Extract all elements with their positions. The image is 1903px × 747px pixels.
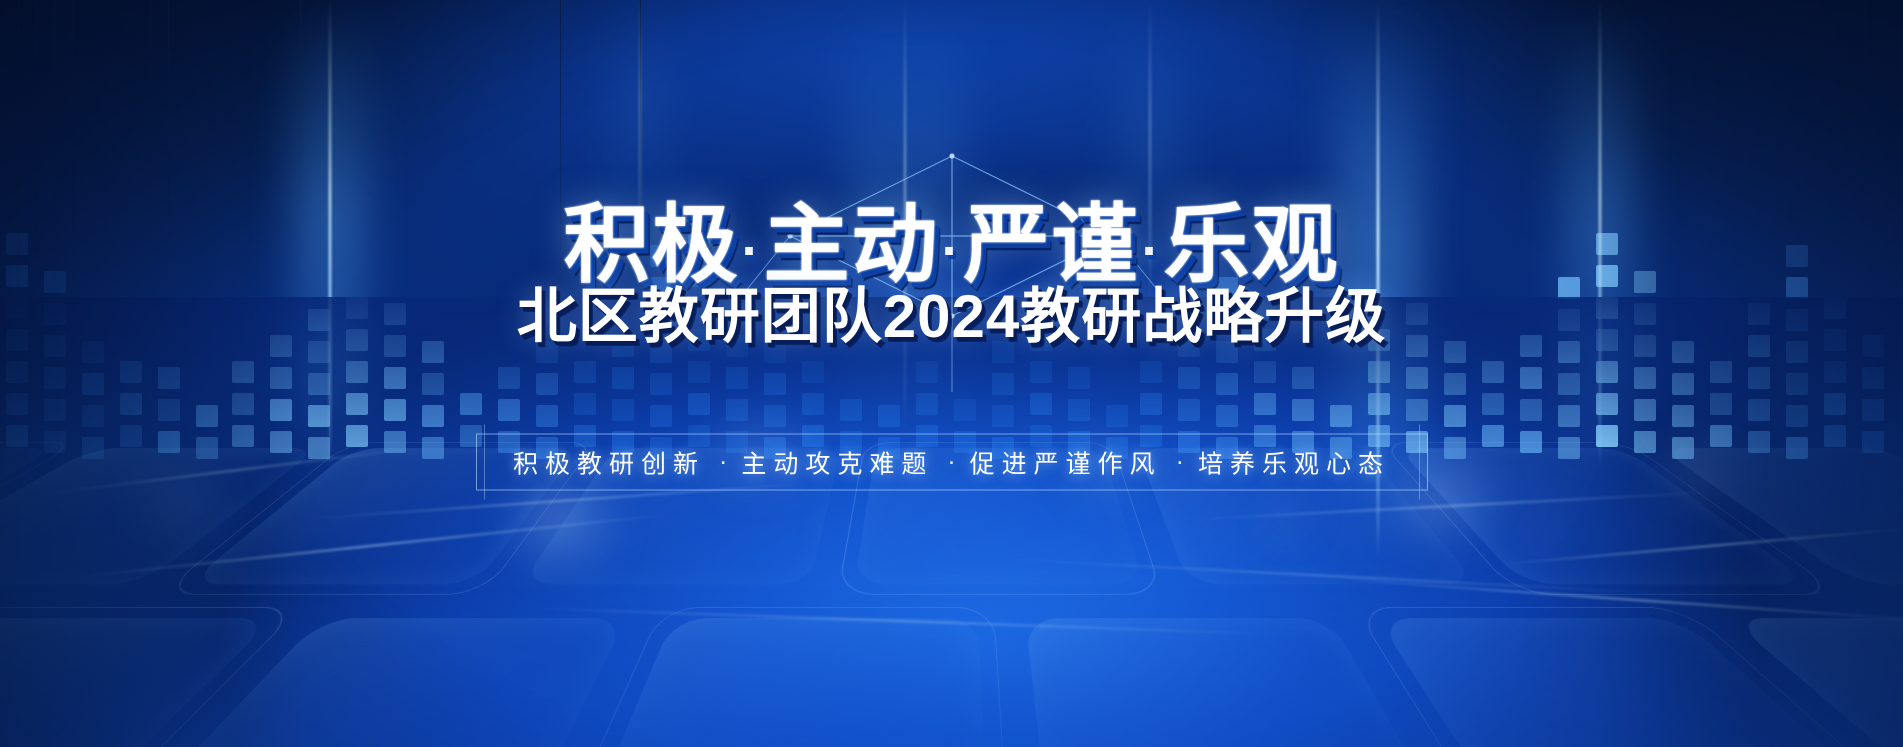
tagline-separator-3: · <box>1162 448 1198 477</box>
banner-subtitle: 北区教研团队2024教研战略升级 <box>0 268 1903 355</box>
tagline-frame: 积极教研创新 · 主动攻克难题 · 促进严谨作风 · 培养乐观心态 <box>476 434 1428 491</box>
tagline-separator-1: · <box>705 448 741 477</box>
tagline-item-4: 培养乐观心态 <box>1198 444 1390 480</box>
text-stage: 积极·主动·严谨·乐观 北区教研团队2024教研战略升级 积极教研创新 · 主动… <box>0 0 1903 747</box>
tagline-item-3: 促进严谨作风 <box>970 444 1162 480</box>
promo-banner: 积极·主动·严谨·乐观 北区教研团队2024教研战略升级 积极教研创新 · 主动… <box>0 0 1903 747</box>
tagline-container: 积极教研创新 · 主动攻克难题 · 促进严谨作风 · 培养乐观心态 <box>476 434 1428 491</box>
tagline-separator-2: · <box>933 448 969 477</box>
tagline-item-2: 主动攻克难题 <box>741 444 933 480</box>
tagline-text: 积极教研创新 · 主动攻克难题 · 促进严谨作风 · 培养乐观心态 <box>476 434 1428 491</box>
tagline-item-1: 积极教研创新 <box>513 444 705 480</box>
